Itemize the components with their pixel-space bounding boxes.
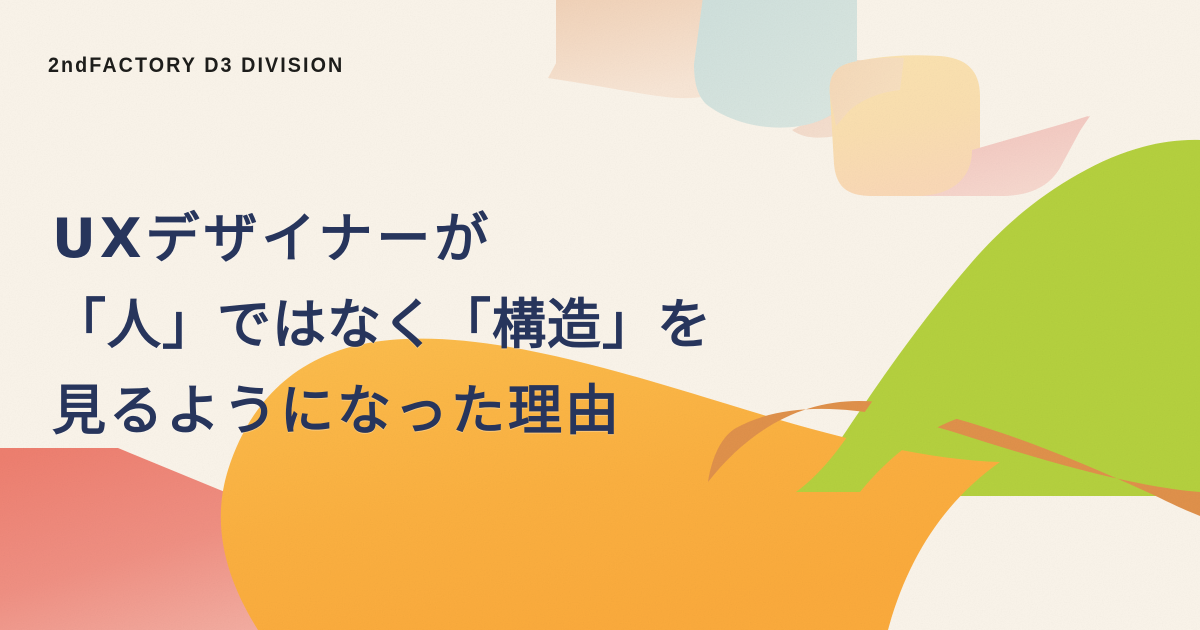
page-title: UXデザイナーが 「人」ではなく「構造」を 見るようになった理由: [52, 196, 872, 454]
headline-line-2: 「人」ではなく「構造」を: [52, 282, 872, 368]
ogp-banner-canvas: 2ndFACTORY D3 DIVISION UXデザイナーが 「人」ではなく「…: [0, 0, 1200, 630]
brand-logo-text: 2ndFACTORY D3 DIVISION: [48, 55, 344, 76]
headline-line-1: UXデザイナーが: [52, 196, 872, 282]
headline-line-3: 見るようになった理由: [52, 368, 872, 454]
